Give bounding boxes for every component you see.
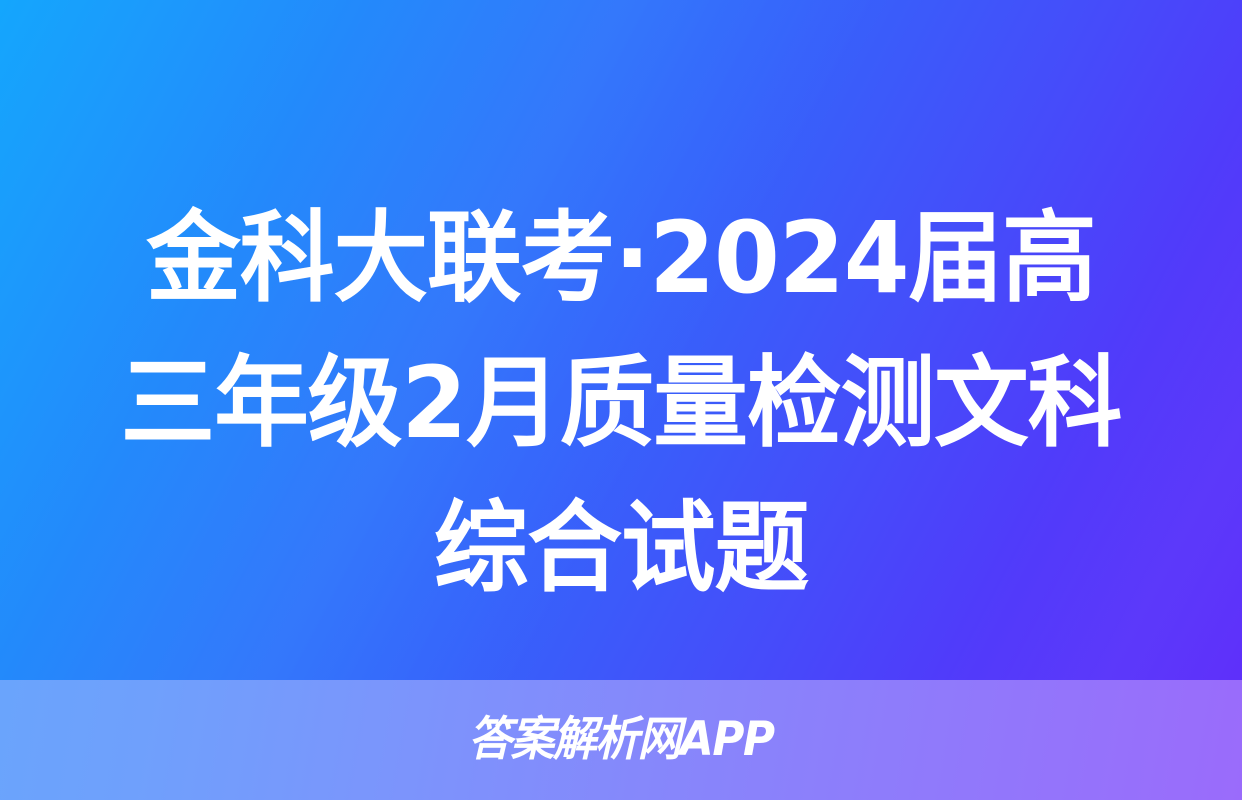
watermark-band: 答案解析网APP (0, 680, 1242, 800)
exam-title-card: 金科大联考·2024届高三年级2月质量检测文科综合试题 答案解析网APP (0, 0, 1242, 800)
page-title: 金科大联考·2024届高三年级2月质量检测文科综合试题 (108, 186, 1134, 621)
watermark-label: 答案解析网APP (43, 714, 1198, 766)
hero-gradient-panel: 金科大联考·2024届高三年级2月质量检测文科综合试题 (0, 0, 1242, 680)
